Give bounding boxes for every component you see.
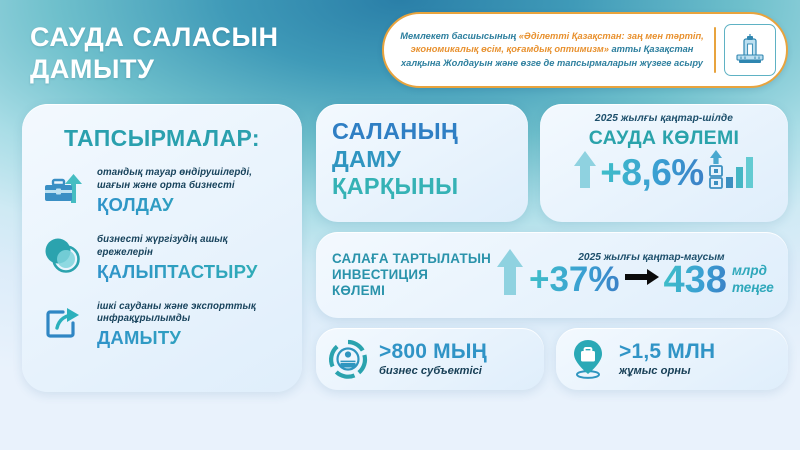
business-entity-icon	[328, 339, 368, 379]
investment-values: +37% 438 млрд теңге	[529, 261, 774, 299]
task-description: отандық тауар өндірушілерді, шағын және …	[97, 167, 284, 193]
bar-chart-growth-icon	[706, 148, 756, 197]
investment-unit: млрд теңге	[732, 263, 774, 295]
task-item: отандық тауар өндірушілерді, шағын және …	[40, 166, 284, 216]
task-item: ішкі сауданы және экспорттық инфрақұрылы…	[40, 300, 284, 350]
task-keyword: ҚОЛДАУ	[97, 194, 284, 216]
investment-amount: 438	[664, 261, 727, 299]
task-text: отандық тауар өндірушілерді, шағын және …	[97, 166, 284, 216]
dynamics-line-2: ДАМУ	[332, 146, 512, 174]
president-address-banner: Мемлекет басшысының «Әділетті Қазақстан:…	[382, 12, 788, 88]
trade-volume-card: 2025 жылғы қаңтар-шілде САУДА КӨЛЕМІ +8,…	[540, 104, 788, 222]
stat-caption: бизнес субъектісі	[379, 365, 487, 377]
investment-volume-card: САЛАҒА ТАРТЫЛАТЫН ИНВЕСТИЦИЯ КӨЛЕМІ 2025…	[316, 232, 788, 318]
arrow-up-icon	[495, 247, 525, 304]
job-location-pin-icon	[568, 339, 608, 379]
infographic-page: САУДА САЛАСЫН ДАМЫТУ Мемлекет басшысының…	[0, 0, 800, 450]
trade-value: +8,6%	[600, 154, 703, 191]
banner-text: Мемлекет басшысының «Әділетті Қазақстан:…	[398, 30, 712, 70]
sector-dynamics-card: САЛАНЫҢ ДАМУ ҚАРҚЫНЫ	[316, 104, 528, 222]
page-title: САУДА САЛАСЫН ДАМЫТУ	[30, 22, 360, 86]
stat-row: >800 МЫҢ бизнес субъектісі	[316, 328, 544, 390]
investment-label-line-1: САЛАҒА ТАРТЫЛАТЫН	[332, 251, 491, 267]
banner-text-part1: Мемлекет басшысының	[400, 31, 519, 41]
investment-percent: +37%	[529, 262, 620, 297]
task-description: ішкі сауданы және экспорттық инфрақұрылы…	[97, 301, 284, 327]
tasks-panel: ТАПСЫРМАЛАР: отандық тауар өндірушілерді…	[22, 104, 302, 392]
jobs-card: >1,5 МЛН жұмыс орны	[556, 328, 788, 390]
investment-unit-line-2: теңге	[732, 280, 774, 296]
dynamics-line-3: ҚАРҚЫНЫ	[332, 173, 512, 201]
government-building-icon	[724, 24, 776, 76]
investment-label-line-3: КӨЛЕМІ	[332, 283, 491, 299]
stat-value: >1,5 МЛН	[619, 341, 715, 363]
stat-row: >1,5 МЛН жұмыс орны	[556, 328, 788, 390]
investment-label-line-2: ИНВЕСТИЦИЯ	[332, 267, 491, 283]
investment-figures: 2025 жылғы қаңтар-маусым +37% 438 млрд т…	[529, 252, 774, 299]
task-keyword: ДАМЫТУ	[97, 327, 284, 349]
arrow-right-icon	[625, 267, 659, 292]
investment-row: САЛАҒА ТАРТЫЛАТЫН ИНВЕСТИЦИЯ КӨЛЕМІ 2025…	[332, 242, 772, 308]
stat-value: >800 МЫҢ	[379, 341, 487, 363]
export-share-icon	[40, 300, 86, 346]
task-keyword: ҚАЛЫПТАСТЫРУ	[97, 261, 284, 283]
task-description: бизнесті жүргізудің ашық ережелерін	[97, 234, 284, 260]
stat-text: >800 МЫҢ бизнес субъектісі	[379, 341, 487, 376]
task-text: ішкі сауданы және экспорттық инфрақұрылы…	[97, 300, 284, 350]
banner-divider	[714, 27, 716, 73]
briefcase-arrow-up-icon	[40, 166, 86, 212]
trade-value-row: +8,6%	[552, 148, 776, 197]
trade-label: САУДА КӨЛЕМІ	[552, 127, 776, 150]
investment-unit-line-1: млрд	[732, 263, 774, 279]
arrow-up-icon	[572, 148, 598, 197]
task-item: бизнесті жүргізудің ашық ережелерін ҚАЛЫ…	[40, 233, 284, 283]
tasks-title: ТАПСЫРМАЛАР:	[40, 125, 284, 152]
stat-caption: жұмыс орны	[619, 365, 715, 377]
task-text: бизнесті жүргізудің ашық ережелерін ҚАЛЫ…	[97, 233, 284, 283]
investment-label: САЛАҒА ТАРТЫЛАТЫН ИНВЕСТИЦИЯ КӨЛЕМІ	[332, 251, 491, 298]
stat-text: >1,5 МЛН жұмыс орны	[619, 341, 715, 376]
business-entities-card: >800 МЫҢ бизнес субъектісі	[316, 328, 544, 390]
overlapping-circles-icon	[40, 233, 86, 279]
dynamics-line-1: САЛАНЫҢ	[332, 118, 512, 146]
trade-period: 2025 жылғы қаңтар-шілде	[552, 113, 776, 124]
